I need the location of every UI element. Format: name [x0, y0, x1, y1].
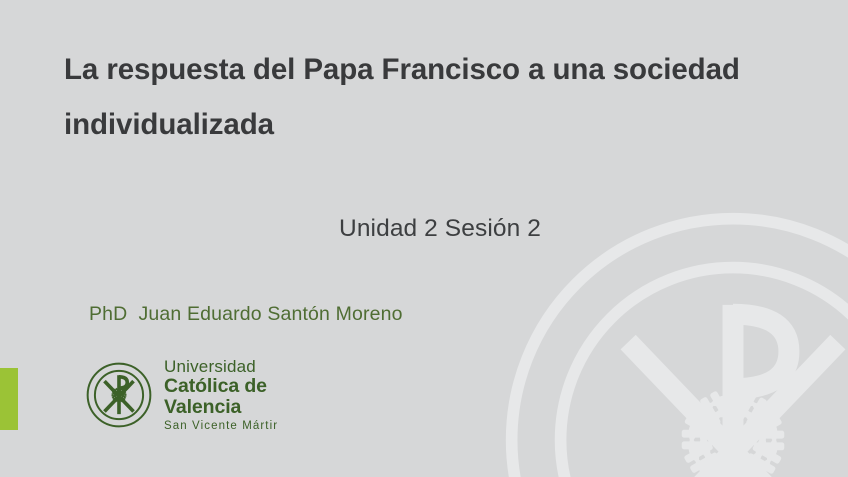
logo-line-valencia: Valencia	[164, 398, 278, 418]
logo-line-san-vicente-martir: San Vicente Mártir	[164, 421, 278, 433]
author-line: PhD Juan Eduardo Santón Moreno	[89, 303, 403, 326]
accent-bar	[0, 368, 18, 430]
title-line-2: individualizada	[64, 97, 784, 152]
presentation-slide: La respuesta del Papa Francisco a una so…	[0, 0, 848, 477]
page-title: La respuesta del Papa Francisco a una so…	[64, 42, 784, 152]
chi-rho-emblem-icon	[86, 362, 152, 428]
chi-rho-watermark-icon	[500, 207, 848, 477]
logo-line-catolica: Católica de	[164, 377, 278, 397]
university-logo: Universidad Católica de Valencia San Vic…	[86, 358, 278, 433]
subtitle: Unidad 2 Sesión 2	[0, 212, 848, 246]
title-line-1: La respuesta del Papa Francisco a una so…	[64, 42, 784, 97]
logo-wordmark: Universidad Católica de Valencia San Vic…	[164, 358, 278, 433]
logo-line-universidad: Universidad	[164, 358, 278, 375]
